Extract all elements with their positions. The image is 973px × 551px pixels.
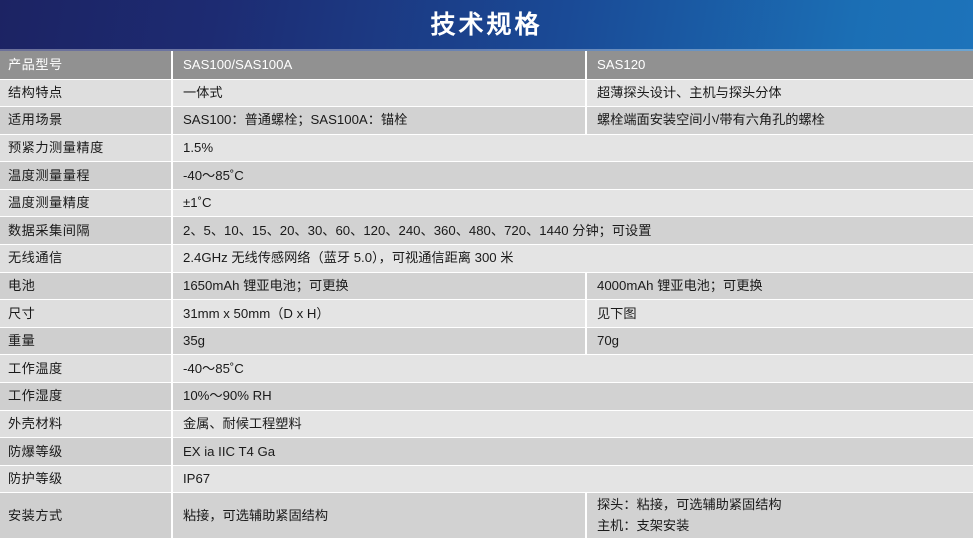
row-label: 适用场景 xyxy=(0,107,172,135)
specification-table: 产品型号 SAS100/SAS100A SAS120 结构特点 一体式 超薄探头… xyxy=(0,51,973,539)
header-model-sas120: SAS120 xyxy=(586,51,973,79)
row-value-shared: -40～85˚C xyxy=(172,355,973,383)
row-label: 工作湿度 xyxy=(0,383,172,411)
spec-sheet: 技术规格 产品型号 SAS100/SAS100A SAS120 结构特点 一体式… xyxy=(0,0,973,551)
header-label-cell: 产品型号 xyxy=(0,51,172,79)
row-value-shared: -40～85˚C xyxy=(172,162,973,190)
row-label: 工作温度 xyxy=(0,355,172,383)
row-value-sas100: 31mm x 50mm（D x H） xyxy=(172,300,586,328)
row-value-shared: ±1˚C xyxy=(172,189,973,217)
row-value-sas120: 螺栓端面安装空间小/带有六角孔的螺栓 xyxy=(586,107,973,135)
row-label: 外壳材料 xyxy=(0,410,172,438)
row-value-sas100: SAS100：普通螺栓；SAS100A：锚栓 xyxy=(172,107,586,135)
row-value-shared: IP67 xyxy=(172,465,973,493)
row-value-shared: 2.4GHz 无线传感网络（蓝牙 5.0），可视通信距离 300 米 xyxy=(172,245,973,273)
table-row: 工作温度 -40～85˚C xyxy=(0,355,973,383)
row-label: 防爆等级 xyxy=(0,438,172,466)
row-label: 电池 xyxy=(0,272,172,300)
row-value-sas100: 35g xyxy=(172,327,586,355)
row-value-sas100: 一体式 xyxy=(172,79,586,107)
row-label: 温度测量量程 xyxy=(0,162,172,190)
table-row: 防护等级 IP67 xyxy=(0,465,973,493)
row-label: 无线通信 xyxy=(0,245,172,273)
row-value-sas120: 超薄探头设计、主机与探头分体 xyxy=(586,79,973,107)
row-label: 温度测量精度 xyxy=(0,189,172,217)
table-header-row: 产品型号 SAS100/SAS100A SAS120 xyxy=(0,51,973,79)
table-row-install: 安装方式 粘接，可选辅助紧固结构 探头：粘接，可选辅助紧固结构 主机：支架安装 xyxy=(0,493,973,539)
table-row: 无线通信 2.4GHz 无线传感网络（蓝牙 5.0），可视通信距离 300 米 xyxy=(0,245,973,273)
table-row: 适用场景 SAS100：普通螺栓；SAS100A：锚栓 螺栓端面安装空间小/带有… xyxy=(0,107,973,135)
table-row: 外壳材料 金属、耐候工程塑料 xyxy=(0,410,973,438)
row-label: 预紧力测量精度 xyxy=(0,134,172,162)
row-label: 结构特点 xyxy=(0,79,172,107)
row-value-sas100: 1650mAh 锂亚电池；可更换 xyxy=(172,272,586,300)
row-label: 防护等级 xyxy=(0,465,172,493)
row-value-shared: 2、5、10、15、20、30、60、120、240、360、480、720、1… xyxy=(172,217,973,245)
header-model-sas100: SAS100/SAS100A xyxy=(172,51,586,79)
table-row: 工作湿度 10%～90% RH xyxy=(0,383,973,411)
row-value-sas120: 见下图 xyxy=(586,300,973,328)
row-label: 安装方式 xyxy=(0,493,172,539)
row-value-shared: EX ia IIC T4 Ga xyxy=(172,438,973,466)
install-host-line: 主机：支架安装 xyxy=(597,516,973,536)
table-row: 温度测量量程 -40～85˚C xyxy=(0,162,973,190)
row-value-sas100: 粘接，可选辅助紧固结构 xyxy=(172,493,586,539)
table-row: 重量 35g 70g xyxy=(0,327,973,355)
install-probe-line: 探头：粘接，可选辅助紧固结构 xyxy=(597,495,973,515)
row-value-shared: 10%～90% RH xyxy=(172,383,973,411)
row-value-sas120: 探头：粘接，可选辅助紧固结构 主机：支架安装 xyxy=(586,493,973,539)
row-label: 重量 xyxy=(0,327,172,355)
table-row: 数据采集间隔 2、5、10、15、20、30、60、120、240、360、48… xyxy=(0,217,973,245)
row-label: 尺寸 xyxy=(0,300,172,328)
table-row: 电池 1650mAh 锂亚电池；可更换 4000mAh 锂亚电池；可更换 xyxy=(0,272,973,300)
row-value-shared: 金属、耐候工程塑料 xyxy=(172,410,973,438)
table-row: 结构特点 一体式 超薄探头设计、主机与探头分体 xyxy=(0,79,973,107)
table-row: 预紧力测量精度 1.5% xyxy=(0,134,973,162)
page-title: 技术规格 xyxy=(430,13,542,39)
table-row: 温度测量精度 ±1˚C xyxy=(0,189,973,217)
row-value-sas120: 70g xyxy=(586,327,973,355)
row-value-sas120: 4000mAh 锂亚电池；可更换 xyxy=(586,272,973,300)
row-label: 数据采集间隔 xyxy=(0,217,172,245)
title-banner: 技术规格 xyxy=(0,0,973,51)
table-row: 尺寸 31mm x 50mm（D x H） 见下图 xyxy=(0,300,973,328)
table-row: 防爆等级 EX ia IIC T4 Ga xyxy=(0,438,973,466)
row-value-shared: 1.5% xyxy=(172,134,973,162)
table-body: 产品型号 SAS100/SAS100A SAS120 结构特点 一体式 超薄探头… xyxy=(0,51,973,539)
